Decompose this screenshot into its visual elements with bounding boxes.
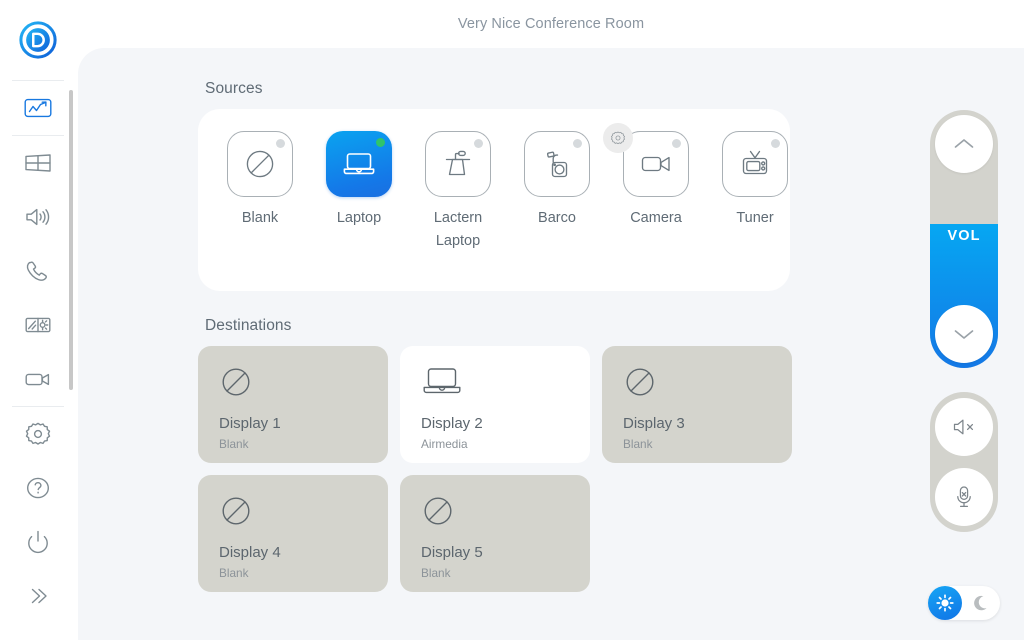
status-dot xyxy=(771,139,780,148)
double-chevron-right-icon xyxy=(24,582,52,610)
source-tile xyxy=(326,131,392,197)
theme-night-button[interactable] xyxy=(962,586,998,620)
source-tile xyxy=(722,131,788,197)
status-dot xyxy=(672,139,681,148)
source-label: Blank xyxy=(220,207,300,230)
source-tile xyxy=(524,131,590,197)
gear-icon xyxy=(24,420,52,448)
source-settings-gear-button[interactable] xyxy=(603,123,633,153)
theme-day-button[interactable] xyxy=(928,586,962,620)
destinations-section-label: Destinations xyxy=(205,317,868,335)
blank-slash-circle-icon xyxy=(219,494,253,528)
volume-up-button[interactable] xyxy=(935,115,993,173)
power-icon xyxy=(24,528,52,556)
destination-card-display-1[interactable]: Display 1 Blank xyxy=(198,346,388,463)
sun-icon xyxy=(936,594,954,612)
television-icon xyxy=(734,143,776,185)
status-dot xyxy=(376,138,385,147)
signal-chart-screen-icon xyxy=(23,96,53,120)
phone-handset-icon xyxy=(23,259,53,283)
speaker-waves-icon xyxy=(23,205,53,229)
video-camera-icon xyxy=(23,367,53,391)
source-tile xyxy=(425,131,491,197)
source-card-camera[interactable]: Camera xyxy=(623,131,689,253)
destination-icon-wrap xyxy=(219,494,253,533)
mute-controls-group xyxy=(930,392,998,532)
gear-icon xyxy=(610,130,626,146)
app-root: Very Nice Conference Room xyxy=(0,0,1024,640)
sidebar xyxy=(0,0,76,640)
destination-source: Blank xyxy=(421,566,451,580)
source-label: Tuner xyxy=(715,207,790,230)
destination-source: Airmedia xyxy=(421,437,468,451)
chevron-down-icon xyxy=(953,327,975,341)
source-card-blank[interactable]: Blank xyxy=(227,131,293,253)
destination-icon-wrap xyxy=(421,365,463,404)
sidebar-item-phone[interactable] xyxy=(0,244,76,298)
sidebar-nav-bottom xyxy=(0,407,76,623)
source-card-barco[interactable]: Barco xyxy=(524,131,590,253)
destination-source: Blank xyxy=(219,437,249,451)
source-label: Barco xyxy=(517,207,597,230)
sidebar-item-settings[interactable] xyxy=(0,407,76,461)
sidebar-item-presentation-routing[interactable] xyxy=(0,81,76,135)
sidebar-item-video-conference[interactable] xyxy=(0,352,76,406)
video-camera-icon xyxy=(635,146,677,182)
sidebar-item-collapse[interactable] xyxy=(0,569,76,623)
destination-name: Display 3 xyxy=(623,415,685,432)
destination-icon-wrap xyxy=(219,365,253,404)
dataremote-d-logo-icon xyxy=(19,21,57,59)
laptop-icon xyxy=(421,365,463,399)
source-label: Laptop xyxy=(319,207,399,230)
source-label: Lactern Laptop xyxy=(418,207,498,253)
blank-slash-circle-icon xyxy=(240,144,280,184)
window-layout-icon xyxy=(23,151,53,175)
status-dot xyxy=(474,139,483,148)
moon-icon xyxy=(971,594,989,612)
destinations-grid: Display 1 Blank Display 2 Airmedia xyxy=(198,346,868,592)
chevron-up-icon xyxy=(953,137,975,151)
source-label: Camera xyxy=(616,207,696,230)
app-logo[interactable] xyxy=(0,0,76,80)
destination-card-display-2[interactable]: Display 2 Airmedia xyxy=(400,346,590,463)
source-card-lactern-laptop[interactable]: Lactern Laptop xyxy=(425,131,491,253)
sidebar-item-lighting-shades[interactable] xyxy=(0,298,76,352)
destination-card-display-3[interactable]: Display 3 Blank xyxy=(602,346,792,463)
destination-name: Display 2 xyxy=(421,415,483,432)
sidebar-item-power[interactable] xyxy=(0,515,76,569)
volume-slider[interactable]: VOL xyxy=(930,110,998,368)
blank-slash-circle-icon xyxy=(623,365,657,399)
destination-source: Blank xyxy=(623,437,653,451)
destination-name: Display 4 xyxy=(219,544,281,561)
routing-content: Sources Blank xyxy=(198,80,868,592)
page-title: Very Nice Conference Room xyxy=(78,0,1024,48)
volume-label: VOL xyxy=(930,228,998,244)
sources-panel: Blank Laptop xyxy=(198,109,790,291)
status-dot xyxy=(276,139,285,148)
destination-name: Display 5 xyxy=(421,544,483,561)
lectern-icon xyxy=(438,143,478,185)
mute-microphone-button[interactable] xyxy=(935,468,993,526)
destination-icon-wrap xyxy=(623,365,657,404)
destination-icon-wrap xyxy=(421,494,455,533)
sidebar-item-audio[interactable] xyxy=(0,190,76,244)
sidebar-nav xyxy=(0,81,76,406)
speaker-mute-icon xyxy=(950,415,978,439)
microphone-mute-icon xyxy=(952,483,976,511)
laptop-icon xyxy=(338,143,380,185)
destination-card-display-5[interactable]: Display 5 Blank xyxy=(400,475,590,592)
main-content-panel: Sources Blank xyxy=(78,48,1024,640)
sources-section-label: Sources xyxy=(205,80,868,98)
source-tile xyxy=(623,131,689,197)
question-circle-icon xyxy=(24,474,52,502)
destination-source: Blank xyxy=(219,566,249,580)
destination-card-display-4[interactable]: Display 4 Blank xyxy=(198,475,388,592)
source-card-laptop[interactable]: Laptop xyxy=(326,131,392,253)
volume-down-button[interactable] xyxy=(935,305,993,363)
blank-slash-circle-icon xyxy=(421,494,455,528)
source-card-tuner[interactable]: Tuner xyxy=(722,131,788,253)
sidebar-item-display-layout[interactable] xyxy=(0,136,76,190)
theme-toggle xyxy=(928,586,1000,620)
lighting-shades-icon xyxy=(23,313,53,337)
mute-audio-button[interactable] xyxy=(935,398,993,456)
source-tile xyxy=(227,131,293,197)
status-dot xyxy=(573,139,582,148)
blank-slash-circle-icon xyxy=(219,365,253,399)
sidebar-scrollbar[interactable] xyxy=(69,90,73,390)
destination-name: Display 1 xyxy=(219,415,281,432)
sources-list: Blank Laptop xyxy=(227,131,788,253)
barco-clickshare-icon xyxy=(537,143,577,185)
sidebar-item-help[interactable] xyxy=(0,461,76,515)
